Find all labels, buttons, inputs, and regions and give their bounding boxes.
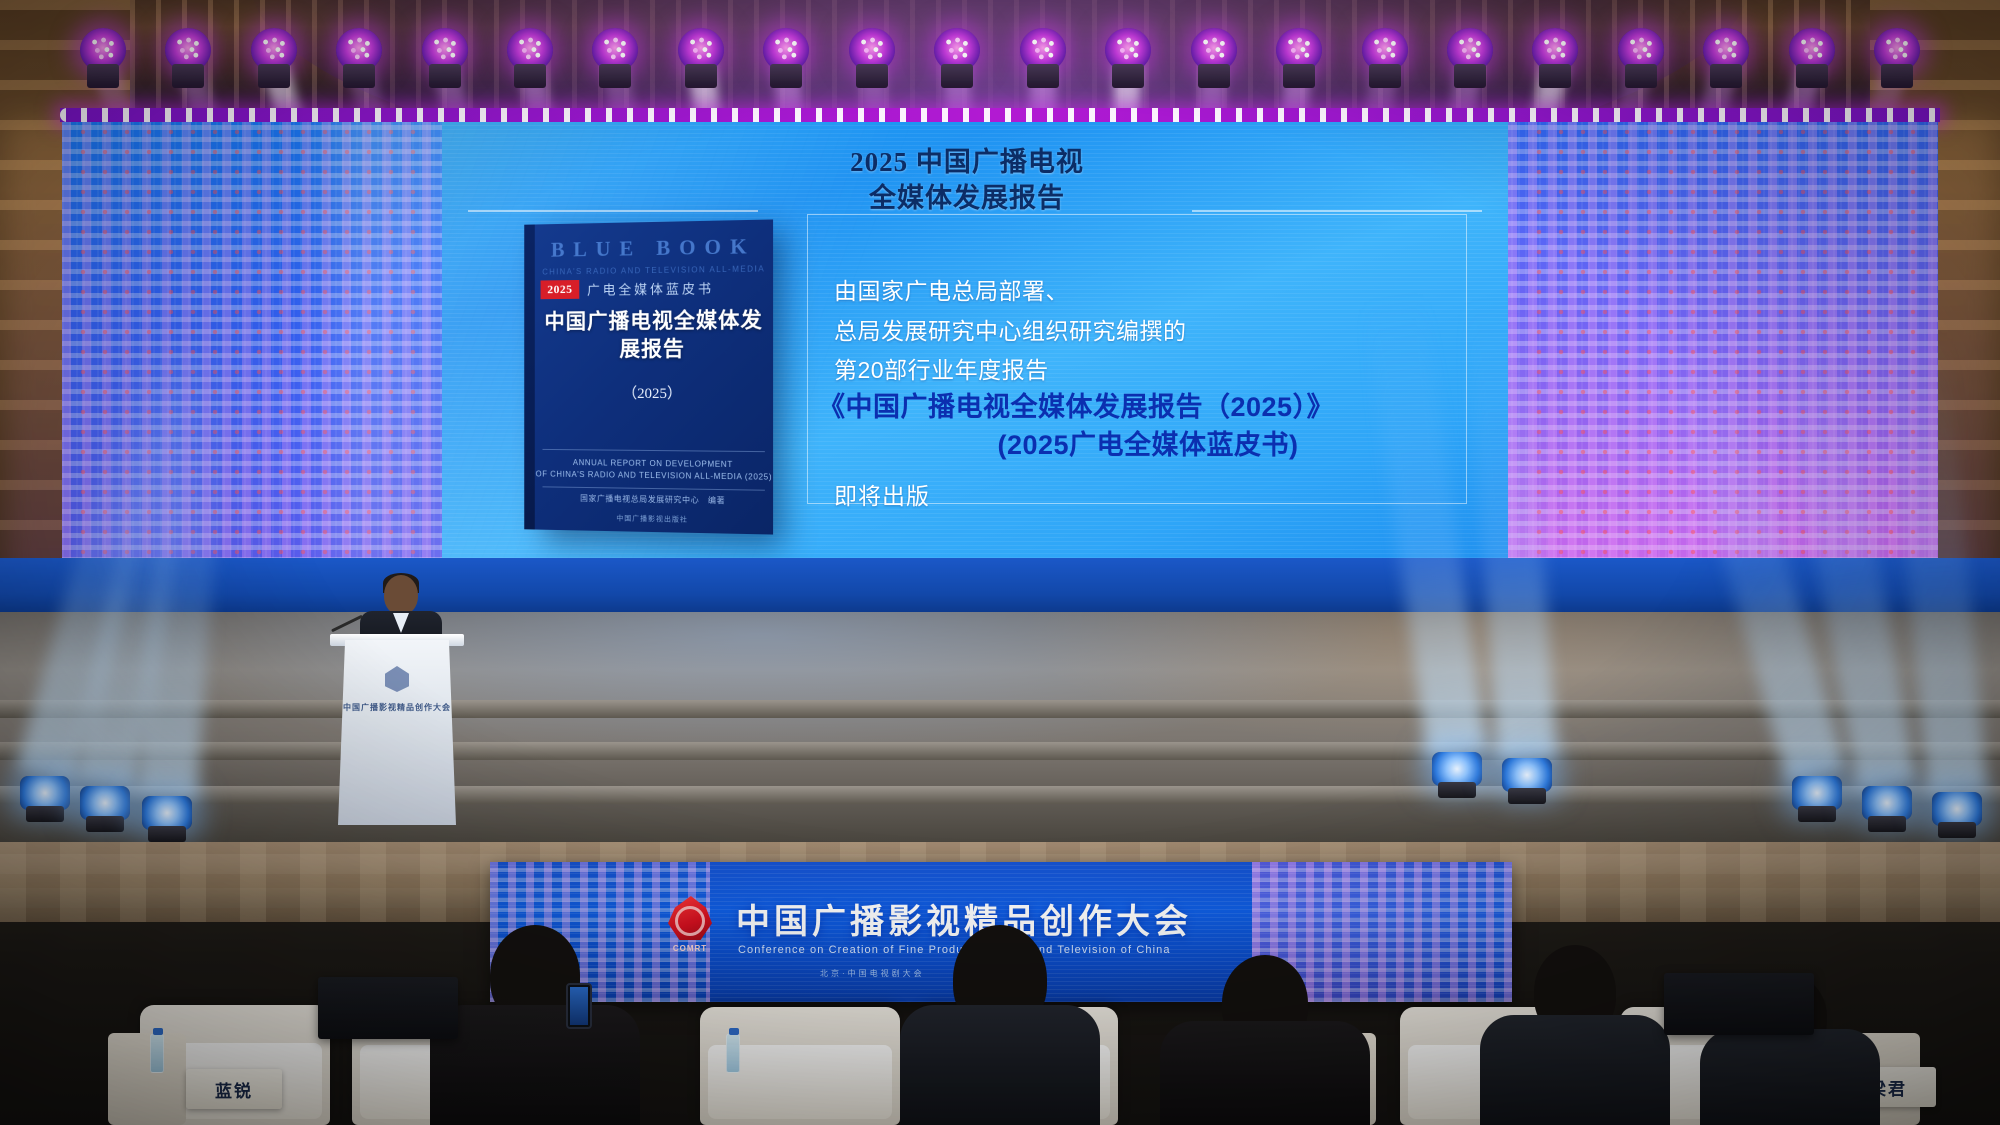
lamp-leds — [260, 35, 288, 63]
lamp-body — [1027, 64, 1059, 88]
floor-light-base — [148, 826, 186, 842]
lamp-leds — [943, 35, 971, 63]
lamp-body — [1283, 64, 1315, 88]
slide-title-line2: 全媒体发展报告 — [752, 180, 1182, 216]
floor-light-lens — [1502, 758, 1552, 792]
water-bottle-2 — [726, 1033, 740, 1073]
lamp-body — [343, 64, 375, 88]
floor-light-lens — [80, 786, 130, 820]
lamp-leds — [1114, 35, 1142, 63]
lamp-leds — [1029, 35, 1057, 63]
book-en-subtitle: ANNUAL REPORT ON DEVELOPMENT OF CHINA'S … — [535, 457, 773, 484]
lamp-leds — [1883, 35, 1911, 63]
lamp-leds — [1371, 35, 1399, 63]
truss-lamp — [934, 28, 980, 88]
slide-title: 2025 中国广播电视 全媒体发展报告 — [752, 144, 1182, 217]
attendee-right-1 — [1480, 945, 1670, 1125]
phone-screen — [570, 987, 588, 1025]
truss-lamp — [1532, 28, 1578, 88]
name-card-left: 蓝锐 — [186, 1069, 282, 1109]
conference-stage-photo: 2025 中国广播电视 全媒体发展报告 BLUE BOOK CHINA'S RA… — [0, 0, 2000, 1125]
floor-moving-light — [1860, 786, 1914, 832]
book-series-tag: 2025 广电全媒体蓝皮书 — [541, 278, 715, 299]
lamp-body — [1710, 64, 1742, 88]
lamp-body — [258, 64, 290, 88]
lamp-body — [514, 64, 546, 88]
floor-light-lens — [20, 776, 70, 810]
main-led-screen: 2025 中国广播电视 全媒体发展报告 BLUE BOOK CHINA'S RA… — [62, 122, 1938, 562]
attendee-shoulders — [1480, 1015, 1670, 1125]
presentation-slide: 2025 中国广播电视 全媒体发展报告 BLUE BOOK CHINA'S RA… — [442, 122, 1508, 562]
book-author: 国家广播电视总局发展研究中心 编著 — [535, 492, 773, 507]
truss-lamp — [849, 28, 895, 88]
truss-lamp — [1703, 28, 1749, 88]
floor-moving-light — [1500, 758, 1554, 804]
book-en-line1: ANNUAL REPORT ON DEVELOPMENT — [573, 458, 733, 469]
lamp-body — [87, 64, 119, 88]
book-divider-top — [542, 449, 764, 452]
floor-light-lens — [1432, 752, 1482, 786]
lamp-leds — [431, 35, 459, 63]
water-bottle-1 — [150, 1033, 164, 1073]
laptop-left — [318, 977, 458, 1039]
truss-lamp — [1618, 28, 1664, 88]
podium: 中国广播影视精品创作大会 — [338, 640, 456, 825]
lamp-leds — [1712, 35, 1740, 63]
slide-highlight-line1: 《中国广播电视全媒体发展报告（2025）》 — [818, 392, 1334, 422]
lamp-leds — [1541, 35, 1569, 63]
attendee-shoulders — [430, 1005, 640, 1125]
floor-moving-light — [140, 796, 194, 842]
truss-lamp — [336, 28, 382, 88]
attendee-foreground-right — [1160, 955, 1370, 1125]
stage-step-2 — [0, 742, 2000, 760]
floor-light-base — [26, 806, 64, 822]
truss-lamp — [507, 28, 553, 88]
book-year-badge: 2025 — [541, 280, 580, 299]
floor-moving-light — [1790, 776, 1844, 822]
book-publisher: 中国广播影视出版社 — [535, 512, 773, 527]
floor-light-base — [1798, 806, 1836, 822]
attendee-shoulders — [900, 1005, 1100, 1125]
lamp-leds — [1200, 35, 1228, 63]
truss-lamp — [1447, 28, 1493, 88]
attendee-foreground-left — [430, 925, 640, 1125]
stage-floor-sheen — [0, 612, 2000, 842]
book-series-en: BLUE BOOK — [535, 234, 773, 263]
logo-caption: COMRT — [662, 944, 718, 953]
lamp-leds — [345, 35, 373, 63]
bottle-cap — [729, 1028, 739, 1035]
lamp-body — [1625, 64, 1657, 88]
lamp-body — [1198, 64, 1230, 88]
floor-light-base — [86, 816, 124, 832]
floor-light-lens — [142, 796, 192, 830]
lamp-body — [685, 64, 717, 88]
floor-light-lens — [1792, 776, 1842, 810]
led-strip — [60, 108, 1940, 122]
floor-moving-light — [78, 786, 132, 832]
slide-publish-note: 即将出版 — [834, 477, 930, 511]
floor-light-lens — [1862, 786, 1912, 820]
floor-light-base — [1508, 788, 1546, 804]
truss-lamp — [80, 28, 126, 88]
lamp-body — [1454, 64, 1486, 88]
lamp-body — [172, 64, 204, 88]
lamp-leds — [1456, 35, 1484, 63]
led-strip-bulbs — [60, 108, 1940, 122]
lamp-leds — [601, 35, 629, 63]
truss-lamp — [1020, 28, 1066, 88]
stage-step-3 — [0, 786, 2000, 804]
logo-ring-shape — [675, 906, 705, 936]
lamp-leds — [1285, 35, 1313, 63]
laptop-right — [1664, 973, 1814, 1035]
side-table-left — [108, 1033, 186, 1125]
book-year-paren: （2025） — [535, 382, 773, 404]
truss-lamp — [1105, 28, 1151, 88]
floor-moving-light — [1430, 752, 1484, 798]
speaker-head — [384, 575, 418, 615]
floor-light-base — [1868, 816, 1906, 832]
stage-step-1 — [0, 700, 2000, 718]
slide-title-rule-right — [1192, 210, 1482, 212]
book-series-en-sub: CHINA'S RADIO AND TELEVISION ALL-MEDIA — [535, 264, 773, 276]
lamp-body — [1539, 64, 1571, 88]
slide-title-rule-left — [468, 210, 758, 212]
book-en-line2: OF CHINA'S RADIO AND TELEVISION ALL-MEDI… — [536, 470, 773, 482]
lamp-body — [1881, 64, 1913, 88]
truss-lamp — [251, 28, 297, 88]
lamp-body — [941, 64, 973, 88]
floor-light-base — [1938, 822, 1976, 838]
podium-label: 中国广播影视精品创作大会 — [338, 702, 456, 713]
lamp-body — [1369, 64, 1401, 88]
book-title-cn: 中国广播电视全媒体发展报告 — [535, 307, 773, 364]
truss-lamp — [1191, 28, 1237, 88]
attendee-shoulders — [1700, 1029, 1880, 1125]
floor-moving-light — [18, 776, 72, 822]
truss-lamp — [763, 28, 809, 88]
lamp-body — [1796, 64, 1828, 88]
book-cover: BLUE BOOK CHINA'S RADIO AND TELEVISION A… — [535, 219, 773, 534]
floor-light-lens — [1932, 792, 1982, 826]
truss-lamp — [422, 28, 468, 88]
truss-lamp — [165, 28, 211, 88]
lamp-body — [770, 64, 802, 88]
truss-lamp — [678, 28, 724, 88]
lamp-body — [429, 64, 461, 88]
bottle-cap — [153, 1028, 163, 1035]
comrt-logo-icon: COMRT — [662, 896, 718, 958]
lamp-leds — [687, 35, 715, 63]
truss-lamp — [1789, 28, 1835, 88]
podium-emblem-icon — [385, 666, 409, 692]
book-series-cn: 广电全媒体蓝皮书 — [587, 278, 714, 299]
lamp-leds — [174, 35, 202, 63]
lamp-leds — [1798, 35, 1826, 63]
floor-light-base — [1438, 782, 1476, 798]
lamp-leds — [89, 35, 117, 63]
slide-title-line1: 2025 中国广播电视 — [752, 144, 1182, 180]
lamp-body — [599, 64, 631, 88]
lamp-body — [1112, 64, 1144, 88]
floor-moving-light — [1930, 792, 1984, 838]
book-divider-bottom — [542, 486, 764, 490]
truss-lamp — [1362, 28, 1408, 88]
truss-lamp — [592, 28, 638, 88]
lamp-leds — [858, 35, 886, 63]
truss-lamp — [1874, 28, 1920, 88]
lamp-body — [856, 64, 888, 88]
phone-camera — [566, 983, 592, 1029]
attendee-center — [900, 925, 1100, 1125]
stage-front-edge — [0, 558, 2000, 618]
lamp-leds — [1627, 35, 1655, 63]
truss-lamp — [1276, 28, 1322, 88]
attendee-shoulders — [1160, 1021, 1370, 1125]
book-spine — [524, 224, 535, 529]
lamp-leds — [772, 35, 800, 63]
lamp-leds — [516, 35, 544, 63]
